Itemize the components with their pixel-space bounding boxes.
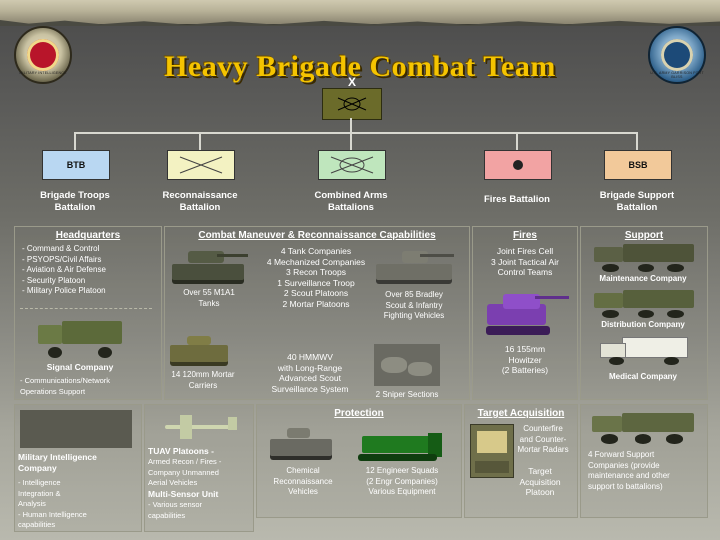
medical-company-label: Medical Company: [582, 372, 704, 383]
unit-caption-fires: Fires Battalion: [462, 194, 572, 206]
hq-unit-symbol[interactable]: X: [322, 88, 382, 120]
panel-title-protection: Protection: [257, 408, 461, 419]
panel-title-headquarters: Headquarters: [15, 230, 161, 241]
unit-box-combined-arms[interactable]: [318, 150, 386, 180]
m1a1-tank-art: [172, 246, 244, 284]
distribution-company-label: Distribution Company: [582, 320, 704, 331]
paladin-howitzer-art: [484, 292, 564, 336]
panel-title-target-acq: Target Acquisition: [465, 408, 577, 419]
regimental-crest-icon: MILITARY INTELLIGENCE: [14, 26, 72, 84]
crest-inner: [661, 39, 693, 71]
fires-lines: Joint Fires Cell 3 Joint Tactical Air Co…: [476, 246, 574, 278]
target-acq-sub: Target Acquisition Platoon: [506, 466, 574, 498]
tuav-lines: Armed Recon / Fires - Company Unmanned A…: [148, 457, 250, 489]
unit-box-btb[interactable]: BTB: [42, 150, 110, 180]
chem-caption: Chemical Reconnaissance Vehicles: [262, 466, 344, 498]
unit-abbr: BSB: [628, 160, 647, 170]
signal-shelter-vehicle-art: [36, 318, 124, 358]
unit-caption-bsb: Brigade Support Battalion: [582, 190, 692, 214]
mi-bullets: - Intelligence Integration & Analysis - …: [18, 478, 142, 531]
page-header: Heavy Brigade Combat Team: [0, 20, 720, 82]
unit-caption-recon: Reconnaissance Battalion: [145, 190, 255, 214]
connector-drop-5: [636, 132, 638, 150]
target-acq-lines: Counterfire and Counter- Mortar Radars: [512, 424, 574, 456]
headquarters-bullets: - Command & Control - PSYOPS/Civil Affai…: [22, 244, 154, 297]
engineer-dozer-art: [356, 428, 448, 462]
sniper-team-art: [374, 344, 440, 386]
panel-title-maneuver: Combat Maneuver & Reconnaissance Capabil…: [165, 230, 469, 241]
unit-caption-combined-arms: Combined Arms Battalions: [296, 190, 406, 214]
crest-right-label: U.S. ARMY GARRISON FORT BLISS: [650, 71, 704, 79]
armored-cavalry-symbol-icon: [337, 97, 367, 111]
maintenance-company-label: Maintenance Company: [582, 274, 704, 285]
connector-drop-3: [350, 132, 352, 150]
mi-shelter-vehicles-art: [20, 410, 132, 448]
artillery-symbol-icon: [508, 156, 528, 174]
panel-title-fires: Fires: [473, 230, 577, 241]
connector-vertical: [350, 118, 352, 132]
medical-ambulance-art: [598, 334, 690, 366]
cavalry-symbol-icon: [179, 156, 223, 174]
connector-drop-1: [74, 132, 76, 150]
crest-inner: [27, 39, 59, 71]
engineer-caption: 12 Engineer Squads (2 Engr Companies) Va…: [346, 466, 458, 498]
tuav-sub-lines: - Various sensor capabilities: [148, 500, 250, 521]
panel-title-support: Support: [581, 230, 707, 241]
unit-abbr: BTB: [67, 160, 86, 170]
forward-support-caption: 4 Forward Support Companies (provide mai…: [588, 450, 704, 492]
maintenance-truck-art: [592, 242, 696, 272]
connector-horizontal: [74, 132, 636, 134]
mi-title: Military Intelligence Company: [18, 452, 142, 473]
unit-caption-btb: Brigade Troops Battalion: [20, 190, 130, 214]
connector-drop-4: [516, 132, 518, 150]
tank-caption: Over 55 M1A1 Tanks: [166, 288, 252, 309]
tactical-uav-art: [156, 410, 242, 444]
tuav-title: TUAV Platoons -: [148, 446, 250, 457]
howitzer-caption: 16 155mm Howitzer (2 Batteries): [476, 344, 574, 376]
mortar-carrier-art: [170, 332, 228, 366]
mortar-caption: 14 120mm Mortar Carriers: [160, 370, 246, 391]
hmmwv-caption: 40 HMMWV with Long-Range Advanced Scout …: [252, 352, 368, 394]
crest-left-label: MILITARY INTELLIGENCE: [16, 71, 70, 75]
armor-symbol-icon: [330, 156, 374, 174]
echelon-label: X: [323, 75, 381, 89]
chemical-recon-vehicle-art: [270, 424, 332, 460]
tuav-subtitle: Multi-Sensor Unit: [148, 489, 250, 500]
distribution-truck-art: [592, 288, 696, 318]
sniper-caption: 2 Sniper Sections: [360, 390, 454, 401]
unit-box-fires[interactable]: [484, 150, 552, 180]
bradley-art: [376, 246, 452, 284]
unit-box-bsb[interactable]: BSB: [604, 150, 672, 180]
forward-support-truck-art: [590, 410, 696, 444]
army-garrison-crest-icon: U.S. ARMY GARRISON FORT BLISS: [648, 26, 706, 84]
connector-drop-2: [199, 132, 201, 150]
headquarters-divider: [20, 308, 152, 309]
unit-box-recon[interactable]: [167, 150, 235, 180]
signal-company-label: Signal Company: [16, 362, 144, 373]
signal-company-sub: - Communications/Network Operations Supp…: [20, 376, 154, 397]
bradley-caption: Over 85 Bradley Scout & Infantry Fightin…: [366, 290, 462, 322]
